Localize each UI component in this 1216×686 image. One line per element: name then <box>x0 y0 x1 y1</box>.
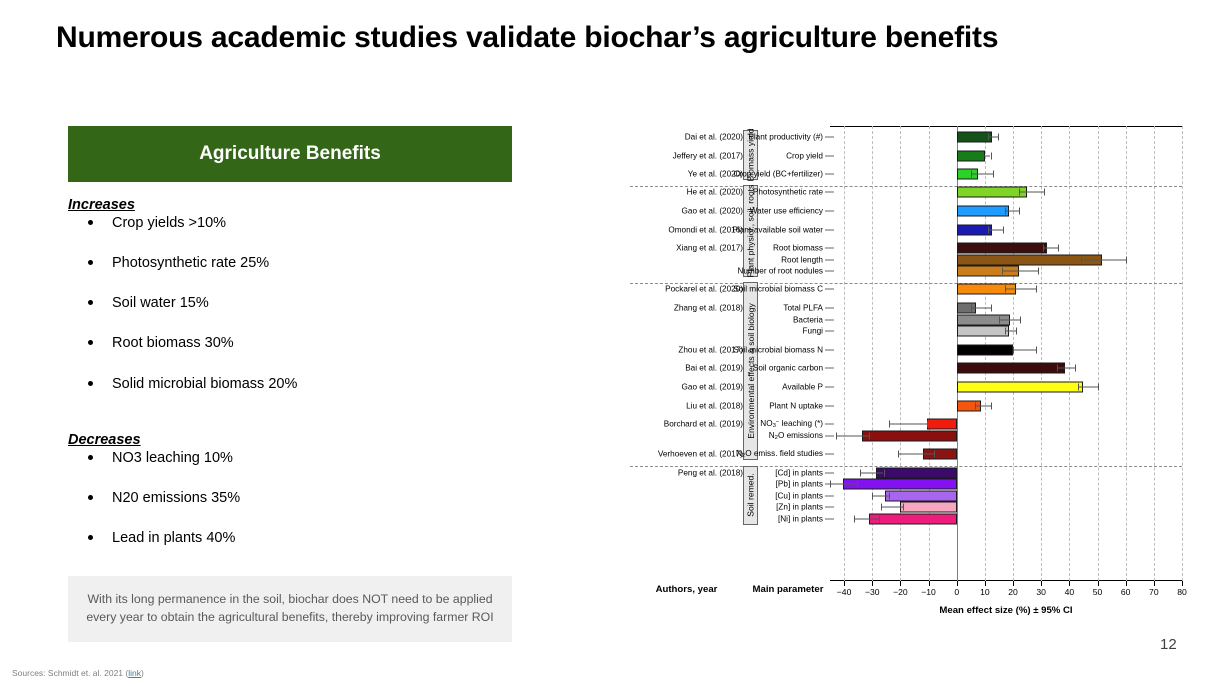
chart-row-parameter: Number of root nodules <box>642 267 823 276</box>
chart-row-tick <box>825 368 834 369</box>
chart-row-parameter: Root length <box>642 255 823 264</box>
chart-row-sample-size: (154) <box>1186 315 1216 324</box>
chart-bar <box>957 344 1013 355</box>
grid-line <box>844 126 845 581</box>
chart-error-bar-cap <box>1005 328 1006 335</box>
increase-item-label: Root biomass 30% <box>112 335 234 351</box>
chart-row-tick <box>825 248 834 249</box>
grid-line <box>1069 126 1070 581</box>
chart-row-tick <box>825 210 834 211</box>
chart-row-sample-size: (490) <box>1186 468 1216 477</box>
x-axis-tick <box>957 581 958 586</box>
chart-error-bar-cap <box>1126 256 1127 263</box>
chart-error-bar-cap <box>879 515 880 522</box>
chart-row-parameter: [Cd] in plants <box>642 468 823 477</box>
chart-error-bar-cap <box>889 492 890 499</box>
chart-row-tick <box>825 349 834 350</box>
x-axis-tick <box>1098 581 1099 586</box>
bullet-dot-icon <box>88 535 93 540</box>
increases-heading: Increases <box>68 197 135 213</box>
chart-error-bar-cap <box>898 451 899 458</box>
increase-item: Crop yields >10% <box>80 214 510 232</box>
chart-error-bar-cap <box>993 171 994 178</box>
x-axis-tick <box>900 581 901 586</box>
page-number: 12 <box>1160 636 1177 653</box>
chart-row-tick <box>825 271 834 272</box>
bullet-dot-icon <box>88 340 93 345</box>
chart-error-bar <box>1005 289 1036 290</box>
chart-error-bar <box>854 518 879 519</box>
chart-row-sample-size: (435) <box>1186 431 1216 440</box>
x-axis-tick-label: −20 <box>893 587 908 597</box>
chart-error-bar-cap <box>934 451 935 458</box>
x-axis-tick-label: 30 <box>1036 587 1046 597</box>
chart-row-sample-size: (1254) <box>1186 133 1216 142</box>
x-axis-tick <box>1126 581 1127 586</box>
chart-row-sample-size: (108) <box>1186 285 1216 294</box>
chart-bar <box>957 382 1084 393</box>
chart-error-bar-cap <box>971 305 972 312</box>
x-axis-tick-label: 60 <box>1121 587 1131 597</box>
chart-error-bar-cap <box>1038 268 1039 275</box>
chart-row-tick <box>825 518 834 519</box>
grid-line <box>1126 126 1127 581</box>
x-axis-tick-label: 0 <box>954 587 959 597</box>
chart-row-tick <box>825 495 834 496</box>
footer-sources-prefix: Sources: Schmidt et. al. 2021 ( <box>12 668 128 678</box>
chart-row-sample-size: (232) <box>1186 170 1216 179</box>
chart-row-parameter: Water use efficiency <box>642 206 823 215</box>
footer-source-link[interactable]: link <box>128 668 141 678</box>
chart-error-bar <box>981 155 991 156</box>
chart-row-sample-size: (106) <box>1186 345 1216 354</box>
chart-row-sample-size: (113) <box>1186 267 1216 276</box>
chart-error-bar-cap <box>854 515 855 522</box>
chart-error-bar-cap <box>881 504 882 511</box>
chart-row-parameter: Crop yield (BC+fertilizer) <box>642 170 823 179</box>
chart-error-bar <box>1005 331 1016 332</box>
grid-line <box>1098 126 1099 581</box>
chart-bar <box>885 490 957 501</box>
chart-error-bar-cap <box>884 469 885 476</box>
chart-error-bar-cap <box>1081 256 1082 263</box>
chart-row-sample-size: (242) <box>1186 327 1216 336</box>
x-axis-tick <box>1069 581 1070 586</box>
chart-error-bar-cap <box>869 432 870 439</box>
x-axis-tick-label: 20 <box>1008 587 1018 597</box>
x-axis-tick <box>844 581 845 586</box>
chart-error-bar-cap <box>988 226 989 233</box>
chart-row-tick <box>825 155 834 156</box>
chart-error-bar <box>836 435 870 436</box>
x-axis-tick <box>1013 581 1014 586</box>
callout-box: With its long permanence in the soil, bi… <box>68 576 512 642</box>
chart-error-bar <box>872 495 889 496</box>
bullet-dot-icon <box>88 495 93 500</box>
chart-error-bar <box>1013 349 1036 350</box>
bullet-dot-icon <box>88 300 93 305</box>
chart-error-bar <box>1019 192 1044 193</box>
chart-bar <box>957 132 992 143</box>
chart-error-bar-cap <box>903 504 904 511</box>
chart-error-bar-cap <box>1016 328 1017 335</box>
chart-error-bar-cap <box>1036 286 1037 293</box>
chart-error-bar <box>1081 259 1126 260</box>
x-axis-tick <box>985 581 986 586</box>
increase-item: Root biomass 30% <box>80 334 510 352</box>
chart-error-bar <box>988 229 1003 230</box>
chart-error-bar <box>830 484 857 485</box>
chart-row-tick <box>825 308 834 309</box>
chart-bar <box>957 205 1009 216</box>
x-axis-tick-label: −30 <box>865 587 880 597</box>
chart-bar <box>862 430 956 441</box>
chart-row-parameter: [Zn] in plants <box>642 503 823 512</box>
x-axis-title: Mean effect size (%) ± 95% CI <box>830 605 1182 616</box>
x-axis-tick-label: 70 <box>1149 587 1159 597</box>
agriculture-benefits-header: Agriculture Benefits <box>68 126 512 182</box>
chart-row-parameter: N2O emiss. field studies <box>642 449 823 459</box>
chart-row-tick <box>825 424 834 425</box>
chart-row-sample-size: (284) <box>1186 480 1216 489</box>
chart-row-tick <box>825 331 834 332</box>
grid-line <box>1182 126 1183 581</box>
chart-error-bar-cap <box>1043 245 1044 252</box>
chart-row-sample-size: (627) <box>1186 244 1216 253</box>
chart-error-bar <box>971 174 994 175</box>
chart-row-parameter: Photosynthetic rate <box>642 188 823 197</box>
chart-row-parameter: N2O emissions <box>642 431 823 441</box>
chart-error-bar <box>881 507 904 508</box>
increase-item-label: Photosynthetic rate 25% <box>112 255 269 271</box>
chart-row-tick <box>825 472 834 473</box>
chart-error-bar-cap <box>872 492 873 499</box>
grid-line <box>1154 126 1155 581</box>
chart-error-bar-cap <box>1020 316 1021 323</box>
chart-row-parameter: [Cu] in plants <box>642 491 823 500</box>
chart-error-bar-cap <box>857 481 858 488</box>
chart-error-bar-cap <box>1005 286 1006 293</box>
chart-error-bar-cap <box>1058 245 1059 252</box>
chart-row-sample-size: (322) <box>1186 188 1216 197</box>
chart-row-tick <box>825 229 834 230</box>
chart-error-bar-cap <box>1098 384 1099 391</box>
chart-row-tick <box>825 174 834 175</box>
bullet-dot-icon <box>88 220 93 225</box>
decrease-item-label: Lead in plants 40% <box>112 530 235 546</box>
chart-row-sample-size: (1125) <box>1186 151 1216 160</box>
slide: Numerous academic studies validate bioch… <box>0 0 1216 686</box>
x-axis-tick <box>1041 581 1042 586</box>
chart-error-bar <box>1057 368 1075 369</box>
bullet-dot-icon <box>88 381 93 386</box>
chart-row-tick <box>825 387 834 388</box>
chart-error-bar <box>988 137 998 138</box>
chart-error-bar-cap <box>1005 207 1006 214</box>
chart-row-sample-size: (241) <box>1186 503 1216 512</box>
chart-row-parameter: Bacteria <box>642 315 823 324</box>
increase-item: Photosynthetic rate 25% <box>80 254 510 272</box>
agriculture-benefits-header-label: Agriculture Benefits <box>199 143 381 165</box>
chart-row-parameter: Soil organic carbon <box>642 364 823 373</box>
chart-error-bar-cap <box>988 134 989 141</box>
chart-row-sample-size: (274) <box>1186 225 1216 234</box>
chart-error-bar-cap <box>1057 365 1058 372</box>
chart-bar <box>900 502 956 513</box>
decrease-item: NO3 leaching 10% <box>80 449 510 467</box>
x-axis-tick-label: −10 <box>921 587 936 597</box>
increase-item-label: Crop yields >10% <box>112 215 226 231</box>
chart-error-bar-cap <box>836 432 837 439</box>
chart-error-bar-cap <box>927 421 928 428</box>
chart-row-sample-size: (137) <box>1186 514 1216 523</box>
chart-error-bar-cap <box>1075 365 1076 372</box>
x-axis-tick <box>929 581 930 586</box>
chart-row-parameter: Available P <box>642 383 823 392</box>
chart-bar <box>869 513 956 524</box>
chart-row-tick <box>825 192 834 193</box>
chart-error-bar <box>1078 387 1098 388</box>
chart-error-bar-cap <box>1078 384 1079 391</box>
chart-error-bar <box>860 472 884 473</box>
chart-row-tick <box>825 507 834 508</box>
chart-error-bar-cap <box>889 421 890 428</box>
chart-error-bar-cap <box>991 305 992 312</box>
chart-error-bar-cap <box>1019 189 1020 196</box>
decreases-heading: Decreases <box>68 432 141 448</box>
grid-line <box>1041 126 1042 581</box>
chart-error-bar-cap <box>991 152 992 159</box>
chart-error-bar-cap <box>999 316 1000 323</box>
chart-error-bar-cap <box>981 152 982 159</box>
bullet-dot-icon <box>88 455 93 460</box>
chart-row-sample-size: (222) <box>1186 364 1216 373</box>
increases-list: Crop yields >10%Photosynthetic rate 25%S… <box>80 214 510 415</box>
chart-error-bar-cap <box>1044 189 1045 196</box>
chart-bar <box>957 243 1047 254</box>
chart-error-bar-cap <box>1036 346 1037 353</box>
callout-text: With its long permanence in the soil, bi… <box>86 591 494 627</box>
chart-error-bar-cap <box>975 402 976 409</box>
chart-error-bar-cap <box>1019 207 1020 214</box>
decreases-list: NO3 leaching 10%N20 emissions 35%Lead in… <box>80 449 510 569</box>
chart-error-bar-cap <box>991 402 992 409</box>
chart-error-bar-cap <box>1003 226 1004 233</box>
chart-error-bar-cap <box>1002 268 1003 275</box>
decrease-item-label: N20 emissions 35% <box>112 490 240 506</box>
x-axis-tick <box>872 581 873 586</box>
chart-error-bar <box>889 424 927 425</box>
chart-row-sample-size: (120) <box>1186 420 1216 429</box>
chart-error-bar <box>1043 248 1058 249</box>
chart-row-tick <box>825 319 834 320</box>
footer-sources-suffix: ) <box>141 668 144 678</box>
chart-row-sample-size: (340) <box>1186 401 1216 410</box>
chart-row-parameter: Plant productivity (#) <box>642 133 823 142</box>
x-axis-tick-label: 40 <box>1065 587 1075 597</box>
chart-row-tick <box>825 435 834 436</box>
bullet-dot-icon <box>88 260 93 265</box>
column-header-authors: Authors, year <box>630 584 743 595</box>
chart-error-bar-cap <box>860 469 861 476</box>
x-axis-tick-label: 50 <box>1093 587 1103 597</box>
chart-bar <box>927 419 957 430</box>
chart-bar <box>957 363 1065 374</box>
increase-item: Soil water 15% <box>80 294 510 312</box>
chart-row-parameter: [Pb] in plants <box>642 480 823 489</box>
chart-row-tick <box>825 137 834 138</box>
chart-error-bar-cap <box>971 171 972 178</box>
decrease-item: Lead in plants 40% <box>80 529 510 547</box>
chart-bar <box>843 479 957 490</box>
chart-error-bar <box>971 308 991 309</box>
chart-row-parameter: Total PLFA <box>642 304 823 313</box>
increase-item-label: Soil water 15% <box>112 295 209 311</box>
chart-error-bar-cap <box>998 134 999 141</box>
chart-row-parameter: Plant-available soil water <box>642 225 823 234</box>
chart-bar <box>957 224 992 235</box>
chart-row-tick <box>825 454 834 455</box>
x-axis-tick <box>1154 581 1155 586</box>
chart-row-tick <box>825 405 834 406</box>
chart-row-parameter: Crop yield <box>642 151 823 160</box>
chart-row-parameter: Root biomass <box>642 244 823 253</box>
x-axis-tick-label: 80 <box>1177 587 1187 597</box>
chart-row-sample-size: (122) <box>1186 450 1216 459</box>
footer-sources: Sources: Schmidt et. al. 2021 (link) <box>12 668 144 678</box>
x-axis-tick-label: −40 <box>837 587 852 597</box>
chart-bar <box>957 187 1027 198</box>
decrease-item: N20 emissions 35% <box>80 489 510 507</box>
chart-error-bar <box>975 405 990 406</box>
chart-row-tick <box>825 259 834 260</box>
chart-row-parameter: Fungi <box>642 327 823 336</box>
increase-item-label: Solid microbial biomass 20% <box>112 376 297 392</box>
chart-row-sample-size: (238) <box>1186 255 1216 264</box>
chart-error-bar <box>898 454 935 455</box>
forest-plot-chart: Biomass yieldPlant physiol., soil, roots… <box>630 118 1188 608</box>
chart-row-parameter: Soil microbial biomass C <box>642 285 823 294</box>
decrease-item-label: NO3 leaching 10% <box>112 450 233 466</box>
chart-row-sample-size: (537) <box>1186 383 1216 392</box>
chart-row-sample-size: (147) <box>1186 304 1216 313</box>
chart-error-bar <box>999 319 1020 320</box>
chart-row-parameter: [Ni] in plants <box>642 514 823 523</box>
chart-error-bar <box>1005 210 1019 211</box>
chart-row-sample-size: (193) <box>1186 491 1216 500</box>
increase-item: Solid microbial biomass 20% <box>80 375 510 393</box>
chart-error-bar-cap <box>1013 346 1014 353</box>
x-axis: −40−30−20−1001020304050607080 <box>830 581 1182 582</box>
chart-row-parameter: Soil microbial biomass N <box>642 345 823 354</box>
page-title: Numerous academic studies validate bioch… <box>56 20 1166 56</box>
chart-row-tick <box>825 289 834 290</box>
x-axis-tick-label: 10 <box>980 587 990 597</box>
chart-bar <box>957 326 1009 337</box>
x-axis-tick <box>1182 581 1183 586</box>
chart-error-bar-cap <box>830 481 831 488</box>
chart-row-sample-size: (284) <box>1186 206 1216 215</box>
chart-row-parameter: NO3− leaching (*) <box>642 419 823 429</box>
column-header-parameter: Main parameter <box>748 584 828 595</box>
chart-bar <box>876 467 956 478</box>
chart-row-parameter: Plant N uptake <box>642 401 823 410</box>
chart-error-bar <box>1002 271 1039 272</box>
